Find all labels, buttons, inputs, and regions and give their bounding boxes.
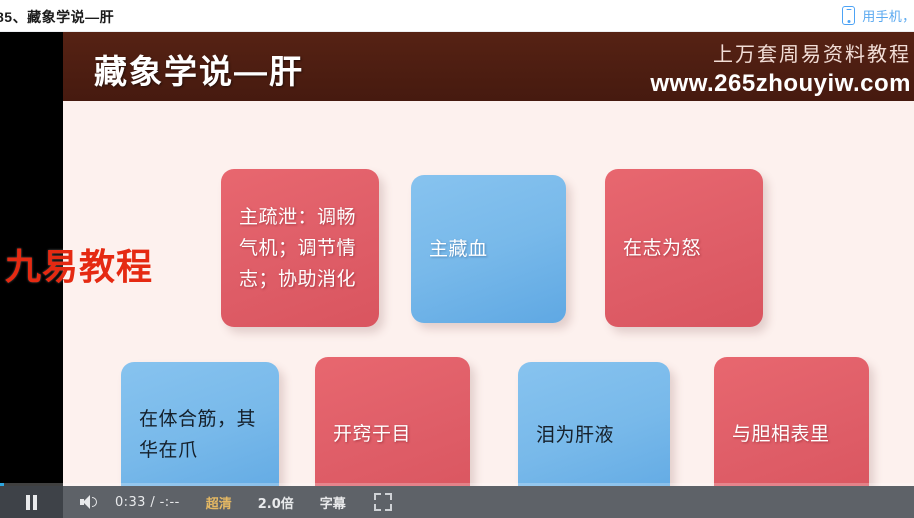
content-box: 主疏泄：调畅气机；调节情志；协助消化 <box>221 169 379 327</box>
volume-button[interactable] <box>71 486 109 518</box>
content-box: 主藏血 <box>411 175 566 323</box>
speed-button[interactable]: 2.0倍 <box>258 493 294 512</box>
controls-row: 0:33 / -:-- 超清 2.0倍 字幕 <box>0 486 392 518</box>
page-header: 85、藏象学说—肝 用手机，随时 <box>0 0 914 32</box>
content-box-label: 主疏泄：调畅气机；调节情志；协助消化 <box>221 202 379 295</box>
subtitle-button[interactable]: 字幕 <box>320 493 346 512</box>
volume-icon <box>80 495 100 509</box>
slide-title: 藏象学说—肝 <box>94 45 304 93</box>
content-box-label: 主藏血 <box>411 234 566 265</box>
video-player[interactable]: 藏象学说—肝 上万套周易资料教程 www.265zhouyiw.com 主疏泄：… <box>0 32 914 518</box>
brand-line-2: www.265zhouyiw.com <box>650 70 911 98</box>
content-box-label: 开窍于目 <box>315 419 470 450</box>
page-root: 85、藏象学说—肝 用手机，随时 藏象学说—肝 上万套周易资料教程 www.26… <box>0 0 914 518</box>
slide-title-bar: 藏象学说—肝 上万套周易资料教程 www.265zhouyiw.com <box>63 32 914 101</box>
player-controls: 0:33 / -:-- 超清 2.0倍 字幕 <box>0 486 914 518</box>
phone-icon <box>842 6 855 25</box>
brand-watermark: 上万套周易资料教程 www.265zhouyiw.com <box>650 38 911 98</box>
fullscreen-icon[interactable] <box>374 493 392 511</box>
quality-button[interactable]: 超清 <box>206 493 232 512</box>
slide-canvas: 藏象学说—肝 上万套周易资料教程 www.265zhouyiw.com 主疏泄：… <box>63 32 914 486</box>
mobile-hint-group[interactable]: 用手机，随时 <box>842 6 914 25</box>
time-display: 0:33 / -:-- <box>115 495 180 510</box>
mobile-hint-label: 用手机，随时 <box>862 6 914 25</box>
content-box-label: 在体合筋，其华在爪 <box>121 404 279 466</box>
site-watermark: 九易教程 <box>5 238 153 290</box>
pause-button[interactable] <box>0 486 63 518</box>
content-box-label: 与胆相表里 <box>714 419 869 450</box>
content-box: 在志为怒 <box>605 169 763 327</box>
content-box-label: 泪为肝液 <box>518 420 670 451</box>
content-box-label: 在志为怒 <box>605 233 763 264</box>
pause-icon <box>26 495 37 510</box>
brand-line-1: 上万套周易资料教程 <box>650 38 911 67</box>
page-title: 85、藏象学说—肝 <box>0 7 114 27</box>
